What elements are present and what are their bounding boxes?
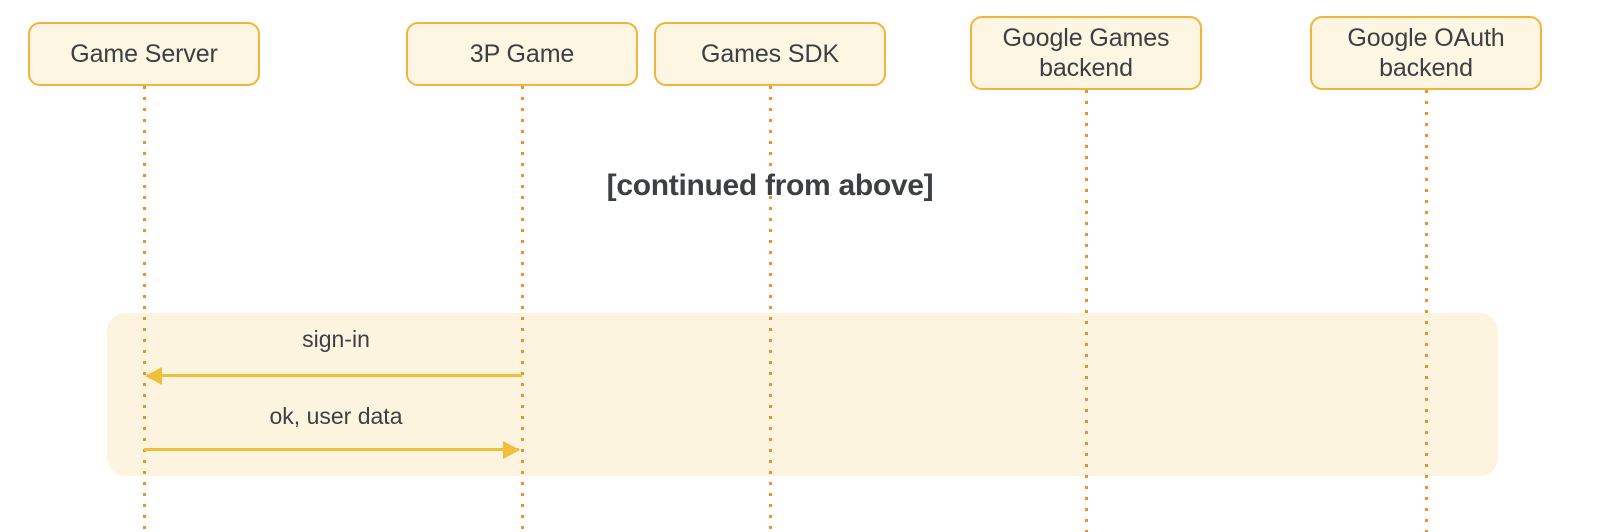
message-label: ok, user data [136,402,536,430]
participant-label: Game Server [62,39,226,69]
lifeline-google-oauth-backend [1425,90,1428,532]
message-line [144,448,519,451]
arrowhead-right-icon [503,441,520,459]
lifeline-google-games-backend [1085,90,1088,532]
participant-google-oauth-backend[interactable]: Google OAuth backend [1310,16,1542,90]
participant-label: Games SDK [693,39,847,69]
arrowhead-left-icon [145,367,162,385]
message-label: sign-in [136,325,536,353]
lifeline-game-server [143,86,146,532]
sequence-diagram: Game Server 3P Game Games SDK Google Gam… [0,0,1604,532]
lifeline-games-sdk [769,86,772,532]
participant-game-server[interactable]: Game Server [28,22,260,86]
participant-games-sdk[interactable]: Games SDK [654,22,886,86]
participant-google-games-backend[interactable]: Google Games backend [970,16,1202,90]
message-line [147,374,522,377]
participant-label: 3P Game [462,39,582,69]
participant-label: Google Games backend [995,23,1178,83]
participant-label: Google OAuth backend [1339,23,1512,83]
lifeline-3p-game [521,86,524,532]
participant-3p-game[interactable]: 3P Game [406,22,638,86]
continued-from-above-note: [continued from above] [0,168,1540,204]
